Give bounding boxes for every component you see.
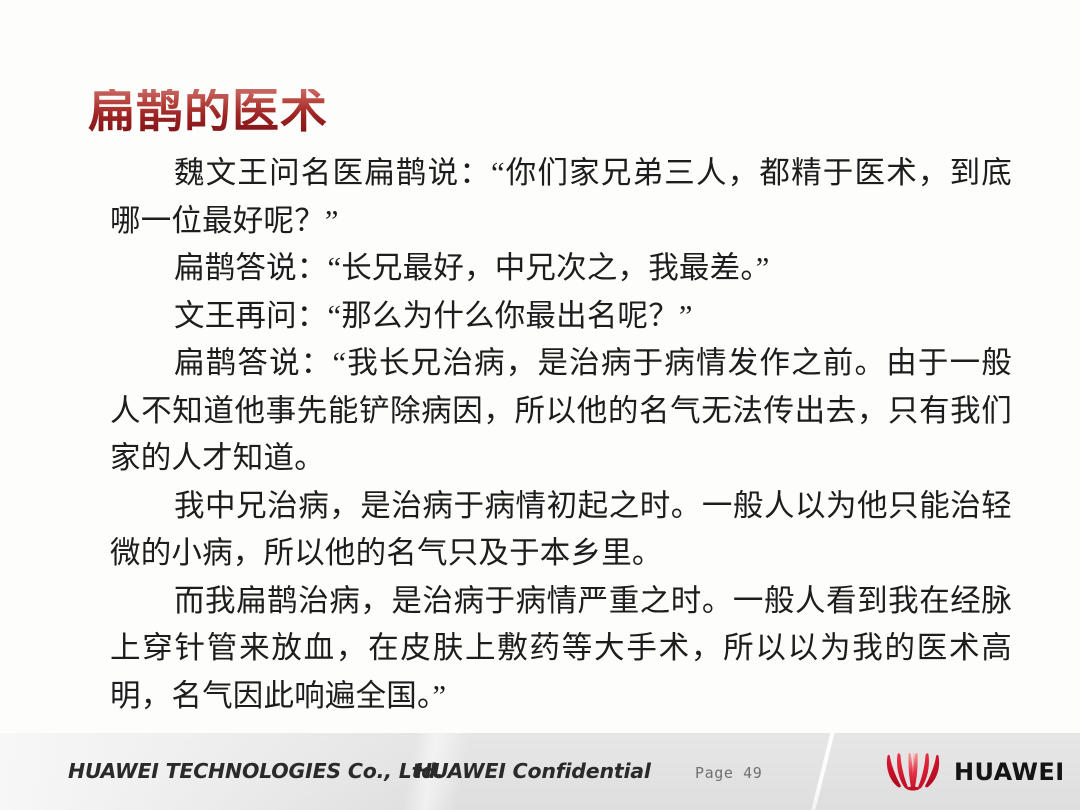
body-paragraph: 魏文王问名医扁鹊说：“你们家兄弟三人，都精于医术，到底哪一位最好呢？” bbox=[110, 150, 1012, 245]
footer-confidentiality-label: HUAWEI Confidential bbox=[415, 759, 651, 783]
huawei-logo: HUAWEI bbox=[885, 753, 1065, 791]
body-paragraph: 扁鹊答说：“我长兄治病，是治病于病情发作之前。由于一般人不知道他事先能铲除病因，… bbox=[110, 340, 1012, 483]
footer-company-name: HUAWEI TECHNOLOGIES Co., Ltd. bbox=[68, 759, 443, 783]
slide-footer: HUAWEI TECHNOLOGIES Co., Ltd. HUAWEI Con… bbox=[0, 733, 1080, 810]
body-paragraph: 文王再问：“那么为什么你最出名呢？” bbox=[110, 293, 1012, 341]
slide-canvas: 扁鹊的医术 魏文王问名医扁鹊说：“你们家兄弟三人，都精于医术，到底哪一位最好呢？… bbox=[0, 0, 1080, 810]
footer-divider-slash bbox=[810, 733, 836, 810]
huawei-flower-icon bbox=[885, 753, 941, 791]
body-paragraph: 扁鹊答说：“长兄最好，中兄次之，我最差。” bbox=[110, 245, 1012, 293]
huawei-wordmark: HUAWEI bbox=[954, 760, 1065, 784]
body-paragraph: 而我扁鹊治病，是治病于病情严重之时。一般人看到我在经脉上穿针管来放血，在皮肤上敷… bbox=[110, 578, 1012, 721]
page-title: 扁鹊的医术 bbox=[88, 89, 328, 136]
slide-body: 魏文王问名医扁鹊说：“你们家兄弟三人，都精于医术，到底哪一位最好呢？” 扁鹊答说… bbox=[110, 150, 1012, 720]
body-paragraph: 我中兄治病，是治病于病情初起之时。一般人以为他只能治轻微的小病，所以他的名气只及… bbox=[110, 483, 1012, 578]
footer-page-number: Page 49 bbox=[695, 764, 762, 782]
